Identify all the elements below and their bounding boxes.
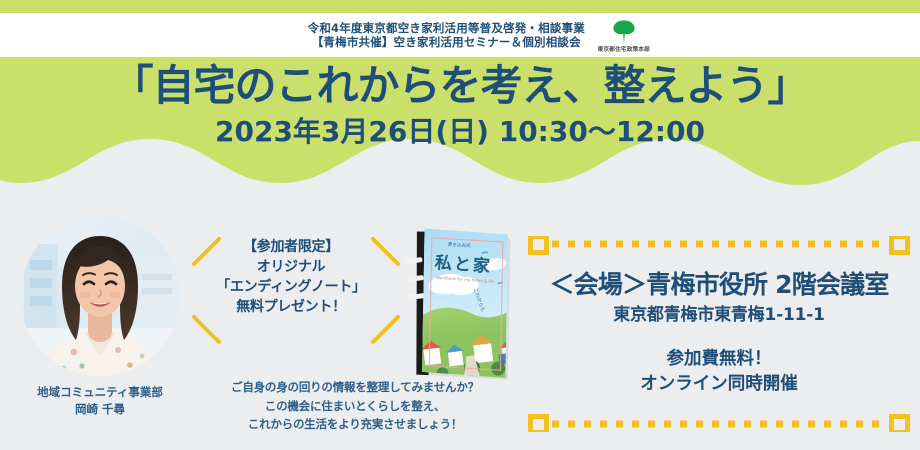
- header-text: 令和4年度東京都空き家利活用等普及啓発・相談事業 【青梅市共催】空き家利活用セミ…: [308, 21, 585, 50]
- blurb-line-3: これからの生活をより充実させましょう！: [190, 415, 520, 434]
- header-line-2: 【青梅市共催】空き家利活用セミナー＆個別相談会: [312, 35, 581, 49]
- gift-callout: 【参加者限定】 オリジナル 「エンディングノート」 無料プレゼント！: [196, 238, 386, 318]
- hero-date: 2023年3月26日(日) 10:30〜12:00: [215, 115, 705, 149]
- gift-line-2: オリジナル: [196, 258, 386, 278]
- avatar: [20, 216, 180, 376]
- blurb-line-2: この機会に住まいとくらしを整え、: [190, 397, 520, 416]
- header-bar: 令和4年度東京都空き家利活用等普及啓発・相談事業 【青梅市共催】空き家利活用セミ…: [0, 13, 920, 57]
- ending-note-booklet-image: 書き込み式 私と家 Workbook for my home & life これ…: [404, 218, 528, 388]
- flyer-canvas: 令和4年度東京都空き家利活用等普及啓発・相談事業 【青梅市共催】空き家利活用セミ…: [0, 0, 920, 450]
- ginkgo-tree-icon: [611, 18, 637, 44]
- speaker-block: 地域コミュニティ事業部 岡崎 千尋: [10, 216, 190, 417]
- gift-line-3: 「エンディングノート」: [196, 278, 386, 298]
- bracket-bottom-left-icon: [192, 315, 222, 345]
- hero-title: 「自宅のこれからを考え、整えよう」: [111, 61, 808, 111]
- blurb-line-1: ご自身の身の回りの情報を整理してみませんか？: [190, 378, 520, 397]
- tokyo-housing-logo: 東京都住宅政策本部: [599, 18, 648, 53]
- svg-text:私と家: 私と家: [434, 252, 492, 277]
- venue-panel: ＜会場＞青梅市役所 2階会議室 東京都青梅市東青梅1-11-1 参加費無料！ オ…: [528, 236, 910, 432]
- gift-line-4: 無料プレゼント！: [196, 298, 386, 318]
- speaker-department: 地域コミュニティ事業部: [10, 384, 190, 401]
- blurb-paragraph: ご自身の身の回りの情報を整理してみませんか？ この機会に住まいとくらしを整え、 …: [190, 378, 520, 434]
- speaker-caption: 地域コミュニティ事業部 岡崎 千尋: [10, 384, 190, 417]
- top-green-strip: [0, 0, 920, 13]
- speaker-name: 岡崎 千尋: [10, 401, 190, 418]
- gift-line-1: 【参加者限定】: [196, 238, 386, 258]
- bracket-bottom-right-icon: [370, 315, 400, 345]
- venue-online: オンライン同時開催: [640, 372, 798, 397]
- logo-caption: 東京都住宅政策本部: [597, 44, 649, 52]
- venue-fee: 参加費無料！: [640, 347, 798, 372]
- venue-fee-block: 参加費無料！ オンライン同時開催: [640, 347, 798, 398]
- hero-band: 「自宅のこれからを考え、整えよう」 2023年3月26日(日) 10:30〜12…: [0, 57, 920, 207]
- venue-hall: ＜会場＞青梅市役所 2階会議室: [549, 270, 888, 300]
- venue-address: 東京都青梅市東青梅1-11-1: [613, 305, 824, 325]
- header-line-1: 令和4年度東京都空き家利活用等普及啓発・相談事業: [308, 21, 585, 35]
